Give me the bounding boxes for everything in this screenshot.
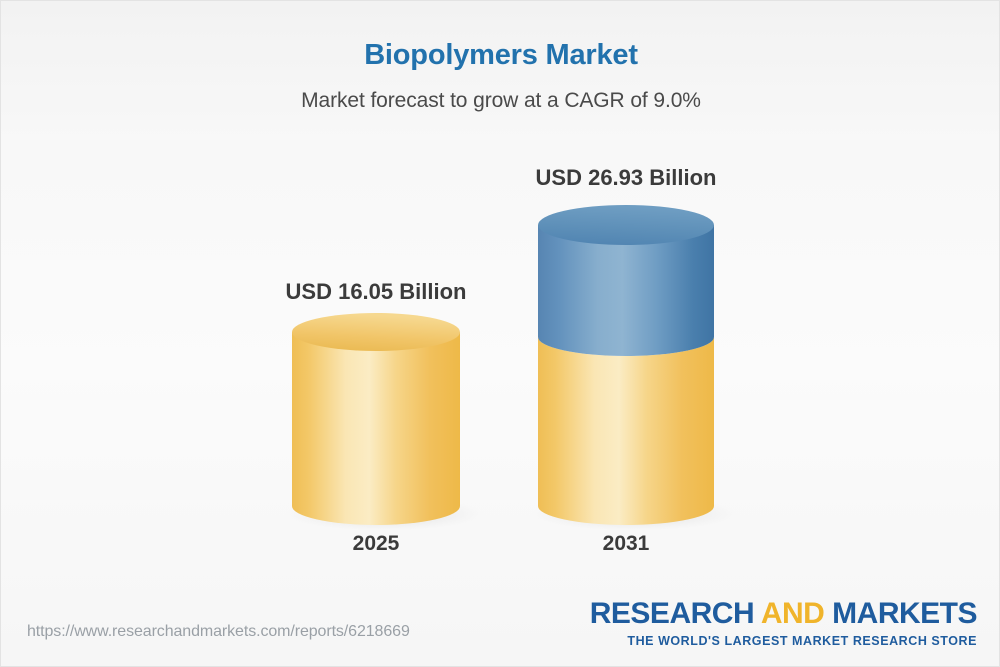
bar-2025-top xyxy=(292,313,460,351)
category-label-2031: 2031 xyxy=(466,532,786,556)
logo-and-text: AND xyxy=(761,597,825,630)
bar-2031-lower-segment xyxy=(538,337,714,525)
value-label-2025: USD 16.05 Billion xyxy=(216,279,536,305)
infographic-canvas: Biopolymers Market Market forecast to gr… xyxy=(0,0,1000,667)
report-url[interactable]: https://www.researchandmarkets.com/repor… xyxy=(27,623,410,641)
bar-2031-top xyxy=(538,205,714,245)
bar-2031 xyxy=(530,205,738,531)
bar-2025 xyxy=(284,313,484,531)
logo-tagline: THE WORLD'S LARGEST MARKET RESEARCH STOR… xyxy=(590,635,977,648)
cylinder-bar-chart xyxy=(1,1,1000,667)
value-label-2031: USD 26.93 Billion xyxy=(466,165,786,191)
logo-research-text: RESEARCH xyxy=(590,597,761,630)
logo-wordmark: RESEARCH AND MARKETS xyxy=(590,599,977,629)
research-and-markets-logo[interactable]: RESEARCH AND MARKETS THE WORLD'S LARGEST… xyxy=(590,599,977,648)
bar-2025-body xyxy=(292,332,460,525)
logo-markets-text: MARKETS xyxy=(824,597,977,630)
